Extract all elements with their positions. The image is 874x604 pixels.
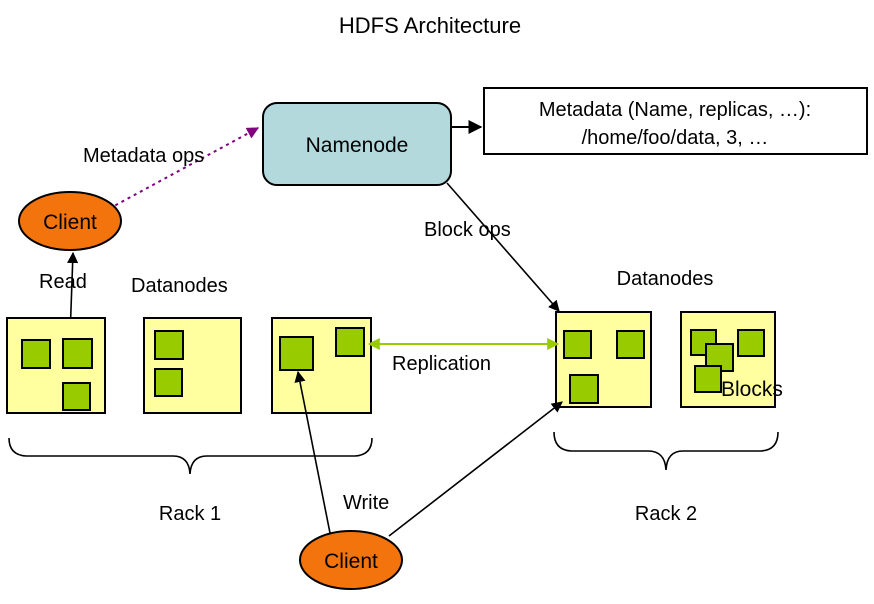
- block: [738, 330, 764, 356]
- datanodes-right-label: Datanodes: [617, 268, 714, 290]
- page-title: HDFS Architecture: [339, 13, 521, 38]
- hdfs-architecture-diagram: HDFS Architecture Namenode Metadata (Nam…: [0, 0, 874, 604]
- block: [63, 383, 90, 410]
- replication-label: Replication: [392, 353, 491, 375]
- write-label: Write: [343, 492, 389, 514]
- block: [695, 366, 721, 392]
- block: [336, 328, 364, 356]
- datanode-dn5[interactable]: Blocks: [681, 312, 783, 407]
- datanode-dn2[interactable]: [144, 318, 241, 413]
- block: [617, 331, 644, 358]
- block: [570, 375, 598, 403]
- datanode-dn3[interactable]: [272, 318, 371, 413]
- datanode-dn1[interactable]: [7, 318, 105, 413]
- blocks-label: Blocks: [721, 378, 783, 401]
- block: [280, 337, 313, 370]
- metadata-box: Metadata (Name, replicas, …): /home/foo/…: [484, 88, 867, 154]
- client-write-label: Client: [324, 550, 378, 573]
- datanode-dn4[interactable]: [556, 312, 651, 407]
- block: [155, 331, 183, 359]
- block: [22, 340, 50, 368]
- datanodes-left-label: Datanodes: [131, 275, 228, 297]
- rack2-label: Rack 2: [635, 503, 697, 525]
- block-ops-label: Block ops: [424, 219, 511, 241]
- read-label: Read: [39, 271, 87, 293]
- block: [564, 331, 591, 358]
- rack1-label: Rack 1: [159, 503, 221, 525]
- client-write-node[interactable]: Client: [300, 531, 402, 589]
- block: [155, 369, 182, 396]
- metadata-ops-label: Metadata ops: [83, 145, 204, 167]
- metadata-line-2: /home/foo/data, 3, …: [582, 127, 769, 149]
- metadata-line-1: Metadata (Name, replicas, …):: [539, 99, 811, 121]
- namenode-node[interactable]: Namenode: [263, 103, 451, 185]
- namenode-label: Namenode: [306, 134, 409, 157]
- block: [63, 339, 92, 368]
- client-read-label: Client: [43, 211, 97, 234]
- client-read-node[interactable]: Client: [19, 192, 121, 250]
